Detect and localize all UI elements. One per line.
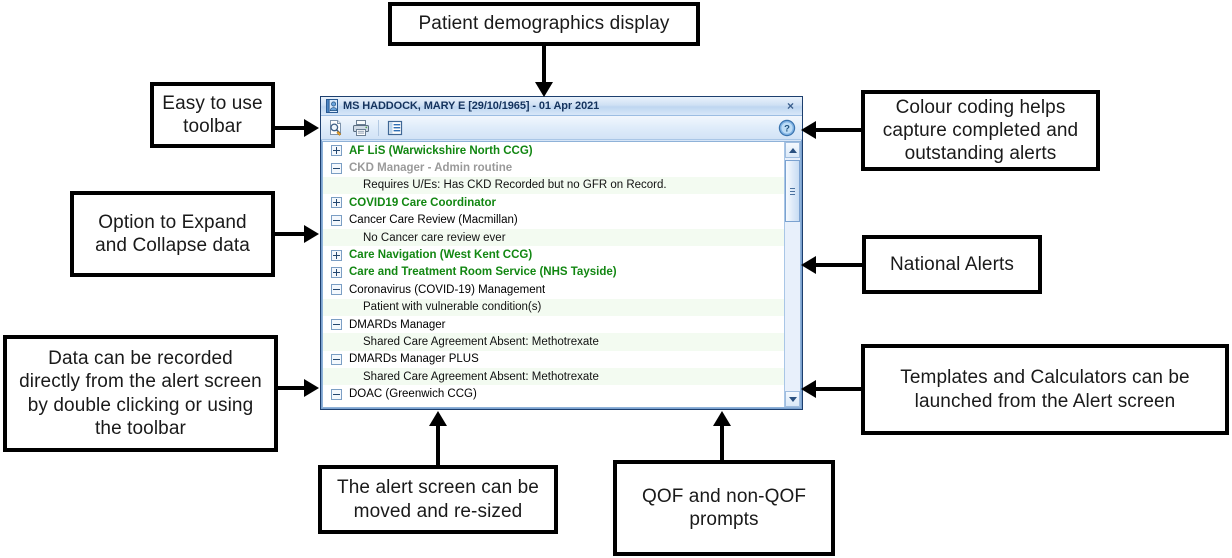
alert-row-label: DMARDs Manager bbox=[349, 319, 446, 331]
svg-text:?: ? bbox=[784, 123, 790, 134]
connector-colour bbox=[816, 128, 863, 132]
arrowhead-record bbox=[304, 379, 319, 397]
arrowhead-demographics bbox=[535, 82, 553, 97]
document-list-icon[interactable] bbox=[384, 118, 406, 138]
window-toolbar[interactable]: ? bbox=[321, 116, 802, 140]
annotated-screenshot: MS HADDOCK, MARY E [29/10/1965] - 01 Apr… bbox=[0, 0, 1232, 558]
callout-easy-toolbar-text: Easy to use toolbar bbox=[154, 92, 271, 138]
alert-row-label: DOAC (Greenwich CCG) bbox=[349, 388, 477, 400]
collapse-icon[interactable] bbox=[331, 354, 342, 365]
alert-row-label: COVID19 Care Coordinator bbox=[349, 197, 496, 209]
collapse-icon[interactable] bbox=[331, 319, 342, 330]
expand-icon[interactable] bbox=[331, 250, 342, 261]
alert-list-area[interactable]: AF LiS (Warwickshire North CCG)CKD Manag… bbox=[322, 141, 801, 408]
arrowhead-national bbox=[801, 256, 816, 274]
arrowhead-templates bbox=[801, 380, 816, 398]
alert-row[interactable]: Coronavirus (COVID-19) Management bbox=[323, 281, 784, 298]
callout-move-resize: The alert screen can be moved and re-siz… bbox=[318, 465, 558, 534]
collapse-icon[interactable] bbox=[331, 163, 342, 174]
scroll-down-arrow-icon[interactable] bbox=[785, 391, 800, 407]
alert-row-label: DMARDs Manager PLUS bbox=[349, 353, 479, 365]
alert-row[interactable]: Care Navigation (West Kent CCG) bbox=[323, 246, 784, 263]
callout-colour-coding: Colour coding helps capture completed an… bbox=[861, 90, 1100, 171]
alert-row-label: Cancer Care Review (Macmillan) bbox=[349, 214, 518, 226]
alert-row[interactable]: DOAC (Greenwich CCG) bbox=[323, 385, 784, 402]
scrollbar-grip-icon bbox=[790, 188, 795, 195]
alert-row[interactable]: No Cancer care review ever bbox=[323, 229, 784, 246]
scrollbar-thumb[interactable] bbox=[785, 160, 800, 222]
arrowhead-colour bbox=[801, 121, 816, 139]
connector-templates bbox=[816, 387, 863, 391]
window-title: MS HADDOCK, MARY E [29/10/1965] - 01 Apr… bbox=[343, 100, 782, 112]
alert-row[interactable]: Care and Treatment Room Service (NHS Tay… bbox=[323, 264, 784, 281]
alert-row-label: AF LiS (Warwickshire North CCG) bbox=[349, 145, 533, 157]
callout-expand-collapse-text: Option to Expand and Collapse data bbox=[74, 211, 271, 257]
connector-national bbox=[816, 263, 863, 267]
vertical-scrollbar[interactable] bbox=[784, 142, 800, 407]
alert-row-label: Care and Treatment Room Service (NHS Tay… bbox=[349, 266, 617, 278]
scroll-up-arrow-icon[interactable] bbox=[785, 142, 800, 158]
alert-row-label: Shared Care Agreement Absent: Methotrexa… bbox=[363, 371, 599, 383]
alert-row[interactable]: Requires U/Es: Has CKD Recorded but no G… bbox=[323, 177, 784, 194]
alert-row-list[interactable]: AF LiS (Warwickshire North CCG)CKD Manag… bbox=[323, 142, 784, 407]
expand-icon[interactable] bbox=[331, 267, 342, 278]
alert-row-label: Care Navigation (West Kent CCG) bbox=[349, 249, 532, 261]
callout-templates-calculators-text: Templates and Calculators can be launche… bbox=[865, 366, 1225, 412]
alert-row[interactable]: DMARDs Manager PLUS bbox=[323, 351, 784, 368]
alert-row-label: Coronavirus (COVID-19) Management bbox=[349, 284, 545, 296]
callout-qof-prompts: QOF and non-QOF prompts bbox=[613, 460, 835, 556]
collapse-icon[interactable] bbox=[331, 284, 342, 295]
connector-resize bbox=[436, 425, 440, 465]
callout-national-alerts-text: National Alerts bbox=[882, 253, 1022, 276]
collapse-icon[interactable] bbox=[331, 215, 342, 226]
alert-row[interactable]: DMARDs Manager bbox=[323, 316, 784, 333]
callout-easy-toolbar: Easy to use toolbar bbox=[150, 82, 275, 148]
alert-row-label: Requires U/Es: Has CKD Recorded but no G… bbox=[363, 179, 667, 191]
callout-national-alerts: National Alerts bbox=[862, 235, 1042, 294]
callout-colour-coding-text: Colour coding helps capture completed an… bbox=[865, 96, 1096, 166]
contact-card-icon bbox=[325, 99, 339, 113]
alert-window[interactable]: MS HADDOCK, MARY E [29/10/1965] - 01 Apr… bbox=[320, 96, 803, 410]
alert-row[interactable]: Cancer Care Review (Macmillan) bbox=[323, 212, 784, 229]
alert-row[interactable]: COVID19 Care Coordinator bbox=[323, 194, 784, 211]
toolbar-separator bbox=[378, 120, 379, 136]
alert-row[interactable]: Shared Care Agreement Absent: Methotrexa… bbox=[323, 333, 784, 350]
arrowhead-expand bbox=[304, 225, 319, 243]
callout-record-data: Data can be recorded directly from the a… bbox=[3, 335, 278, 452]
connector-demographics bbox=[542, 46, 546, 84]
callout-templates-calculators: Templates and Calculators can be launche… bbox=[861, 344, 1229, 435]
callout-qof-prompts-text: QOF and non-QOF prompts bbox=[617, 485, 831, 531]
arrowhead-resize bbox=[429, 411, 447, 426]
callout-record-data-text: Data can be recorded directly from the a… bbox=[7, 347, 274, 440]
alert-row[interactable]: Patient with vulnerable condition(s) bbox=[323, 299, 784, 316]
collapse-icon[interactable] bbox=[331, 389, 342, 400]
printer-icon[interactable] bbox=[350, 118, 372, 138]
alert-row[interactable]: AF LiS (Warwickshire North CCG) bbox=[323, 142, 784, 159]
arrowhead-qof bbox=[713, 411, 731, 426]
alert-row[interactable]: CKD Manager - Admin routine bbox=[323, 159, 784, 176]
alert-row-label: CKD Manager - Admin routine bbox=[349, 162, 512, 174]
expand-icon[interactable] bbox=[331, 197, 342, 208]
help-question-icon[interactable]: ? bbox=[778, 119, 796, 137]
alert-row-label: Shared Care Agreement Absent: Methotrexa… bbox=[363, 336, 599, 348]
alert-row-label: No Cancer care review ever bbox=[363, 232, 506, 244]
callout-patient-demographics-text: Patient demographics display bbox=[411, 12, 678, 35]
callout-patient-demographics: Patient demographics display bbox=[388, 2, 700, 46]
connector-qof bbox=[720, 425, 724, 460]
callout-move-resize-text: The alert screen can be moved and re-siz… bbox=[322, 476, 554, 522]
close-icon[interactable]: × bbox=[782, 99, 799, 114]
magnifier-document-icon[interactable] bbox=[325, 118, 347, 138]
arrowhead-toolbar bbox=[304, 119, 319, 137]
window-title-bar[interactable]: MS HADDOCK, MARY E [29/10/1965] - 01 Apr… bbox=[321, 97, 802, 116]
alert-row[interactable]: Shared Care Agreement Absent: Methotrexa… bbox=[323, 368, 784, 385]
callout-expand-collapse: Option to Expand and Collapse data bbox=[70, 191, 275, 277]
expand-icon[interactable] bbox=[331, 145, 342, 156]
alert-row-label: Patient with vulnerable condition(s) bbox=[363, 301, 541, 313]
